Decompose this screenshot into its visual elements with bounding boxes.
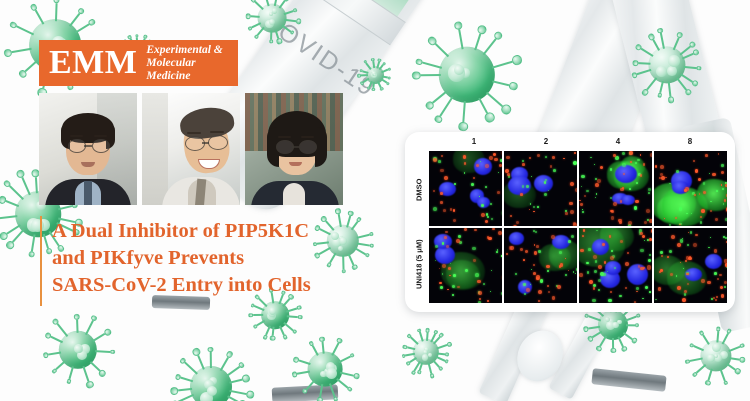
virus-surface-blob bbox=[422, 354, 428, 360]
red-punctum bbox=[506, 253, 508, 255]
red-punctum bbox=[485, 220, 488, 223]
red-punctum bbox=[450, 208, 453, 211]
red-punctum bbox=[713, 297, 715, 299]
virus-surface-blob bbox=[667, 66, 677, 76]
green-punctum bbox=[595, 197, 597, 199]
figure-column-label: 8 bbox=[654, 137, 726, 151]
red-punctum bbox=[649, 219, 652, 223]
virus-spike bbox=[667, 81, 670, 96]
virus-spike bbox=[729, 347, 740, 353]
red-punctum bbox=[643, 163, 646, 166]
person-brow-right bbox=[94, 135, 107, 137]
red-punctum bbox=[726, 241, 727, 243]
green-punctum bbox=[700, 221, 703, 224]
title-accent-rule bbox=[40, 216, 42, 306]
red-punctum bbox=[687, 283, 689, 285]
virus-spike bbox=[257, 320, 265, 326]
red-punctum bbox=[661, 255, 663, 257]
red-punctum bbox=[619, 221, 622, 224]
green-punctum bbox=[478, 301, 481, 303]
green-punctum bbox=[498, 172, 499, 173]
red-punctum bbox=[688, 232, 690, 234]
red-punctum bbox=[630, 161, 632, 163]
red-punctum bbox=[485, 164, 489, 168]
green-punctum bbox=[629, 188, 631, 190]
virus-spike bbox=[653, 39, 660, 50]
green-punctum bbox=[533, 206, 536, 209]
virus-spike bbox=[306, 379, 315, 389]
green-punctum bbox=[710, 237, 712, 239]
red-punctum bbox=[536, 245, 539, 248]
virus-spike bbox=[612, 338, 614, 348]
green-punctum bbox=[537, 206, 539, 208]
virus-spike bbox=[220, 358, 229, 372]
red-punctum bbox=[651, 229, 652, 232]
virus-spike bbox=[58, 206, 72, 211]
red-punctum bbox=[569, 202, 573, 206]
virus-spike bbox=[483, 39, 497, 55]
red-punctum bbox=[693, 160, 695, 162]
person-brow-right bbox=[210, 131, 224, 133]
red-punctum bbox=[557, 285, 561, 289]
red-punctum bbox=[685, 260, 686, 261]
green-punctum bbox=[598, 289, 600, 291]
green-punctum bbox=[575, 273, 576, 274]
virus-particle bbox=[690, 330, 742, 382]
red-punctum bbox=[597, 179, 601, 183]
virus-spike bbox=[478, 98, 487, 114]
virus-spike bbox=[459, 29, 464, 49]
virus-spike bbox=[377, 81, 381, 88]
red-punctum bbox=[481, 213, 485, 217]
red-punctum bbox=[440, 192, 443, 195]
virus-spike bbox=[95, 351, 110, 353]
cover-title: A Dual Inhibitor of PIP5K1C and PIKfyve … bbox=[52, 218, 364, 299]
red-punctum bbox=[441, 155, 443, 157]
virus-spike bbox=[86, 321, 94, 336]
virus-spike bbox=[30, 234, 34, 251]
green-punctum bbox=[590, 157, 592, 159]
red-punctum bbox=[551, 235, 555, 239]
green-punctum bbox=[475, 273, 479, 277]
green-punctum bbox=[453, 274, 456, 277]
green-punctum bbox=[660, 251, 663, 254]
red-punctum bbox=[548, 291, 550, 293]
green-punctum bbox=[491, 218, 492, 219]
virus-spike bbox=[68, 366, 73, 379]
microscopy-tile bbox=[504, 151, 577, 226]
virus-particle bbox=[404, 330, 448, 374]
virus-spike bbox=[251, 15, 260, 17]
virus-surface-blob bbox=[269, 19, 275, 25]
virus-spike bbox=[432, 360, 439, 368]
red-punctum bbox=[573, 222, 576, 225]
red-punctum bbox=[725, 263, 727, 267]
virus-spike bbox=[227, 396, 240, 401]
green-punctum bbox=[640, 249, 643, 252]
red-punctum bbox=[715, 218, 718, 221]
eyeglass-lens-right bbox=[92, 139, 110, 153]
red-punctum bbox=[582, 235, 584, 237]
cell-nucleus bbox=[705, 254, 722, 269]
virus-spike bbox=[492, 61, 513, 69]
author-photo-row bbox=[39, 93, 343, 205]
author-photo-1 bbox=[39, 93, 137, 205]
virus-spike bbox=[283, 323, 293, 332]
virus-spike bbox=[82, 366, 89, 381]
virus-surface-blob bbox=[423, 350, 428, 355]
red-punctum bbox=[568, 270, 570, 272]
virus-spike bbox=[641, 47, 654, 56]
green-punctum bbox=[458, 235, 461, 238]
red-punctum bbox=[611, 216, 615, 220]
virus-spike bbox=[726, 364, 735, 371]
virus-spike bbox=[693, 345, 704, 351]
red-punctum bbox=[640, 267, 643, 270]
virus-spike bbox=[271, 327, 273, 336]
green-punctum bbox=[435, 245, 438, 248]
red-punctum bbox=[433, 158, 437, 162]
virus-spike bbox=[281, 25, 291, 33]
red-punctum bbox=[640, 174, 642, 176]
green-punctum bbox=[711, 298, 713, 300]
red-punctum bbox=[533, 211, 535, 213]
journal-masthead: EMM Experimental & Molecular Medicine bbox=[39, 40, 238, 86]
virus-spike bbox=[659, 81, 663, 93]
green-punctum bbox=[496, 251, 498, 253]
green-punctum bbox=[440, 286, 443, 289]
red-punctum bbox=[560, 263, 563, 266]
virus-particle bbox=[248, 0, 296, 42]
green-punctum bbox=[501, 255, 502, 256]
tube-cap-3 bbox=[591, 368, 666, 392]
red-punctum bbox=[693, 243, 697, 247]
virus-spike bbox=[626, 325, 635, 327]
virus-spike bbox=[177, 393, 194, 401]
red-punctum bbox=[628, 221, 632, 225]
virus-particle bbox=[176, 352, 246, 401]
green-punctum bbox=[655, 299, 656, 300]
microscopy-tile bbox=[579, 151, 652, 226]
red-punctum bbox=[579, 200, 581, 202]
green-punctum bbox=[433, 207, 437, 211]
microscopy-tile bbox=[654, 228, 727, 303]
red-punctum bbox=[671, 235, 675, 239]
red-punctum bbox=[456, 239, 460, 243]
red-punctum bbox=[552, 156, 555, 159]
red-punctum bbox=[520, 248, 523, 251]
virus-spike bbox=[421, 74, 441, 76]
red-punctum bbox=[625, 287, 627, 289]
green-punctum bbox=[501, 292, 502, 295]
red-punctum bbox=[600, 166, 603, 169]
virus-spike bbox=[284, 11, 294, 16]
person-brow-left bbox=[70, 135, 83, 137]
cell-cytoplasm bbox=[697, 179, 727, 211]
red-punctum bbox=[552, 296, 555, 299]
red-punctum bbox=[522, 163, 525, 166]
virus-spike bbox=[229, 379, 242, 384]
virus-spike bbox=[10, 185, 25, 199]
green-punctum bbox=[544, 181, 547, 184]
red-punctum bbox=[563, 158, 564, 159]
red-punctum bbox=[453, 219, 456, 222]
green-punctum bbox=[586, 262, 589, 265]
green-punctum bbox=[669, 183, 670, 184]
red-punctum bbox=[444, 236, 447, 239]
green-punctum bbox=[714, 272, 717, 275]
green-punctum bbox=[610, 197, 612, 199]
red-punctum bbox=[660, 165, 664, 169]
red-punctum bbox=[464, 228, 467, 231]
green-punctum bbox=[576, 268, 577, 271]
red-punctum bbox=[688, 257, 692, 261]
green-punctum bbox=[454, 183, 455, 184]
virus-spike bbox=[625, 316, 637, 322]
red-punctum bbox=[670, 273, 673, 276]
journal-subtitle-line1: Experimental & bbox=[146, 44, 238, 57]
cover-title-line2: and PIKfyve Prevents bbox=[52, 245, 364, 272]
green-punctum bbox=[531, 176, 533, 178]
virus-spike bbox=[646, 77, 657, 90]
green-punctum bbox=[636, 287, 639, 290]
virus-spike bbox=[339, 356, 351, 363]
green-punctum bbox=[582, 209, 583, 210]
red-punctum bbox=[550, 165, 553, 168]
microscopy-tile bbox=[579, 228, 652, 303]
green-punctum bbox=[553, 169, 556, 172]
red-punctum bbox=[446, 245, 448, 247]
red-punctum bbox=[655, 165, 658, 168]
red-punctum bbox=[647, 265, 651, 269]
red-punctum bbox=[724, 281, 727, 284]
green-punctum bbox=[594, 270, 597, 273]
virus-surface-blob bbox=[707, 354, 715, 362]
green-punctum bbox=[490, 203, 492, 205]
virus-surface-blob bbox=[207, 386, 217, 396]
virus-surface-blob bbox=[454, 65, 464, 75]
green-punctum bbox=[726, 267, 727, 268]
virus-spike bbox=[75, 24, 89, 34]
virus-spike bbox=[89, 362, 100, 372]
red-punctum bbox=[636, 291, 638, 293]
journal-subtitle-line2: Molecular Medicine bbox=[146, 57, 238, 83]
red-punctum bbox=[520, 193, 523, 196]
green-punctum bbox=[544, 193, 547, 196]
green-punctum bbox=[515, 273, 517, 275]
red-punctum bbox=[717, 278, 719, 280]
figure-column-label: 1 bbox=[438, 137, 510, 151]
virus-spike bbox=[35, 9, 44, 24]
green-punctum bbox=[582, 211, 584, 213]
photo-backdrop-panel bbox=[142, 93, 168, 205]
cell-nucleus bbox=[435, 246, 455, 264]
green-punctum bbox=[648, 259, 651, 262]
green-punctum bbox=[648, 192, 650, 194]
virus-spike bbox=[340, 372, 354, 377]
red-punctum bbox=[593, 287, 596, 290]
virus-spike bbox=[256, 27, 264, 36]
green-punctum bbox=[471, 183, 474, 186]
red-punctum bbox=[526, 288, 530, 292]
green-punctum bbox=[669, 250, 672, 253]
green-punctum bbox=[565, 274, 568, 277]
green-punctum bbox=[615, 156, 619, 160]
eyeglass-bridge bbox=[84, 145, 92, 147]
red-punctum bbox=[492, 228, 494, 230]
virus-spike bbox=[599, 335, 607, 346]
virus-spike bbox=[373, 61, 376, 68]
red-punctum bbox=[715, 299, 717, 301]
green-punctum bbox=[522, 185, 525, 188]
red-punctum bbox=[620, 188, 623, 191]
cell-nucleus bbox=[621, 195, 634, 205]
red-punctum bbox=[537, 154, 540, 157]
red-punctum bbox=[525, 250, 528, 253]
green-punctum bbox=[635, 162, 637, 164]
red-punctum bbox=[463, 155, 467, 159]
virus-spike bbox=[12, 47, 32, 52]
red-punctum bbox=[533, 272, 536, 275]
green-punctum bbox=[588, 248, 591, 251]
red-punctum bbox=[707, 281, 710, 284]
virus-spike bbox=[422, 61, 442, 68]
red-punctum bbox=[640, 154, 642, 156]
green-punctum bbox=[573, 161, 577, 165]
virus-surface-blob bbox=[31, 219, 44, 232]
red-punctum bbox=[523, 259, 525, 261]
green-punctum bbox=[438, 160, 441, 163]
red-punctum bbox=[644, 221, 647, 224]
red-punctum bbox=[579, 273, 583, 277]
red-punctum bbox=[442, 264, 446, 268]
virus-spike bbox=[420, 332, 424, 342]
red-punctum bbox=[473, 177, 475, 179]
red-punctum bbox=[650, 153, 652, 157]
green-punctum bbox=[483, 283, 485, 285]
figure-row-label-uni418: UNI418 (5 μM) bbox=[411, 227, 427, 302]
green-punctum bbox=[622, 152, 625, 155]
green-punctum bbox=[568, 240, 571, 243]
red-punctum bbox=[538, 300, 540, 302]
red-punctum bbox=[613, 202, 617, 206]
green-punctum bbox=[676, 275, 678, 277]
person-brow-right bbox=[301, 136, 314, 138]
figure-column-label: 2 bbox=[510, 137, 582, 151]
red-punctum bbox=[493, 153, 496, 156]
red-punctum bbox=[565, 212, 568, 215]
green-punctum bbox=[464, 172, 465, 173]
green-punctum bbox=[709, 173, 710, 174]
red-punctum bbox=[474, 229, 476, 231]
red-punctum bbox=[726, 194, 727, 196]
red-punctum bbox=[634, 301, 637, 303]
virus-spike bbox=[676, 78, 687, 91]
virus-spike bbox=[283, 299, 291, 308]
virus-spike bbox=[435, 43, 449, 57]
green-punctum bbox=[703, 182, 705, 184]
red-punctum bbox=[513, 225, 517, 226]
red-punctum bbox=[649, 238, 652, 241]
red-punctum bbox=[720, 286, 723, 289]
virus-surface-blob bbox=[269, 12, 273, 16]
green-punctum bbox=[452, 294, 454, 296]
cell-nucleus bbox=[605, 261, 622, 274]
virus-spike bbox=[475, 34, 482, 51]
green-punctum bbox=[725, 218, 727, 222]
red-punctum bbox=[445, 231, 448, 234]
cell-nucleus bbox=[509, 232, 524, 245]
red-punctum bbox=[487, 300, 489, 302]
virus-spike bbox=[683, 67, 696, 70]
red-punctum bbox=[433, 190, 435, 192]
cover-title-line1: A Dual Inhibitor of PIP5K1C bbox=[52, 218, 364, 245]
virus-spike bbox=[36, 177, 39, 193]
green-punctum bbox=[538, 250, 541, 253]
red-punctum bbox=[642, 235, 645, 238]
red-punctum bbox=[725, 184, 727, 187]
red-punctum bbox=[682, 298, 686, 302]
virus-spike bbox=[696, 364, 706, 373]
red-punctum bbox=[488, 237, 492, 241]
virus-spike bbox=[432, 90, 447, 103]
red-punctum bbox=[609, 235, 611, 237]
figure-column-labels: 1 2 4 8 bbox=[438, 137, 726, 151]
red-punctum bbox=[646, 209, 650, 213]
green-punctum bbox=[581, 186, 582, 187]
red-punctum bbox=[667, 256, 669, 258]
green-punctum bbox=[649, 291, 651, 293]
person-mouth bbox=[289, 162, 302, 166]
green-punctum bbox=[497, 249, 498, 250]
green-punctum bbox=[636, 182, 638, 184]
red-punctum bbox=[464, 162, 467, 165]
microscopy-tile bbox=[504, 228, 577, 303]
eyeglass-bridge bbox=[202, 142, 209, 144]
red-punctum bbox=[547, 285, 549, 287]
virus-spike bbox=[439, 96, 453, 116]
virus-spike bbox=[636, 68, 651, 74]
green-punctum bbox=[481, 204, 484, 207]
red-punctum bbox=[701, 209, 705, 213]
green-punctum bbox=[559, 251, 562, 254]
red-punctum bbox=[659, 271, 661, 273]
red-punctum bbox=[620, 200, 623, 203]
virus-spike bbox=[617, 337, 623, 348]
red-punctum bbox=[721, 171, 724, 174]
red-punctum bbox=[695, 234, 697, 236]
red-punctum bbox=[440, 201, 443, 204]
red-punctum bbox=[494, 158, 497, 161]
red-punctum bbox=[439, 282, 442, 285]
virus-spike bbox=[703, 334, 710, 344]
green-punctum bbox=[721, 164, 723, 166]
red-punctum bbox=[629, 151, 632, 154]
green-punctum bbox=[472, 247, 475, 250]
green-punctum bbox=[608, 299, 611, 302]
green-punctum bbox=[586, 190, 588, 192]
green-punctum bbox=[594, 164, 596, 166]
journal-subtitle: Experimental & Molecular Medicine bbox=[146, 44, 238, 83]
virus-particle bbox=[636, 34, 698, 96]
green-punctum bbox=[491, 270, 492, 271]
virus-spike bbox=[312, 345, 319, 356]
virus-spike bbox=[336, 379, 348, 389]
green-punctum bbox=[600, 272, 604, 276]
green-punctum bbox=[581, 175, 584, 178]
person-shirt bbox=[283, 183, 305, 205]
red-punctum bbox=[534, 251, 538, 255]
